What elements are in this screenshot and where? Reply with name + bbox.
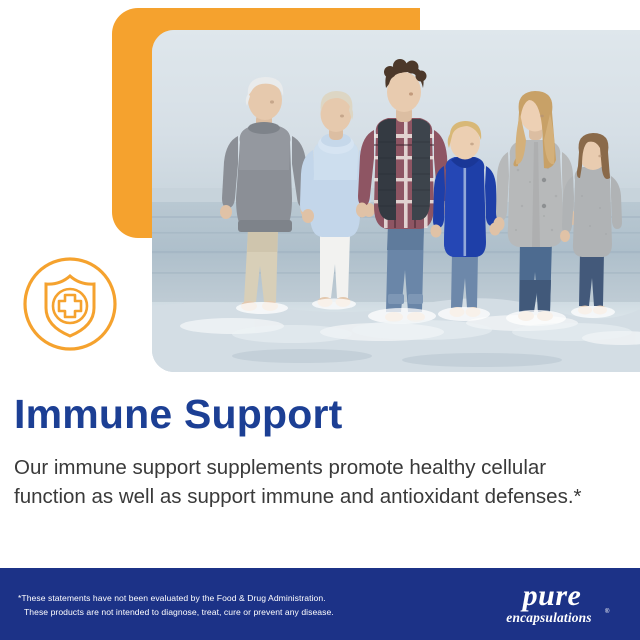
immune-support-promo-card: Immune Support Our immune support supple… (0, 0, 640, 640)
pure-encapsulations-logo-svg: pure encapsulations ® (486, 578, 618, 630)
fda-disclaimer: *These statements have not been evaluate… (18, 588, 334, 620)
page-title: Immune Support (14, 392, 626, 436)
shield-medical-cross-icon-svg (22, 256, 118, 352)
footer-bar: *These statements have not been evaluate… (0, 568, 640, 640)
text-content: Immune Support Our immune support supple… (14, 392, 626, 511)
logo-wordmark: pure (520, 579, 582, 612)
hero-photo (152, 30, 640, 372)
page-subtitle: Our immune support supplements promote h… (14, 453, 614, 511)
logo-subtext: encapsulations (506, 610, 591, 625)
pure-encapsulations-logo: pure encapsulations ® (486, 578, 618, 630)
hero-photo-illustration (152, 30, 640, 372)
shield-medical-cross-icon (22, 256, 118, 352)
disclaimer-line-1: *These statements have not been evaluate… (18, 593, 326, 603)
disclaimer-line-2: These products are not intended to diagn… (18, 606, 334, 620)
logo-trademark-icon: ® (605, 608, 610, 615)
